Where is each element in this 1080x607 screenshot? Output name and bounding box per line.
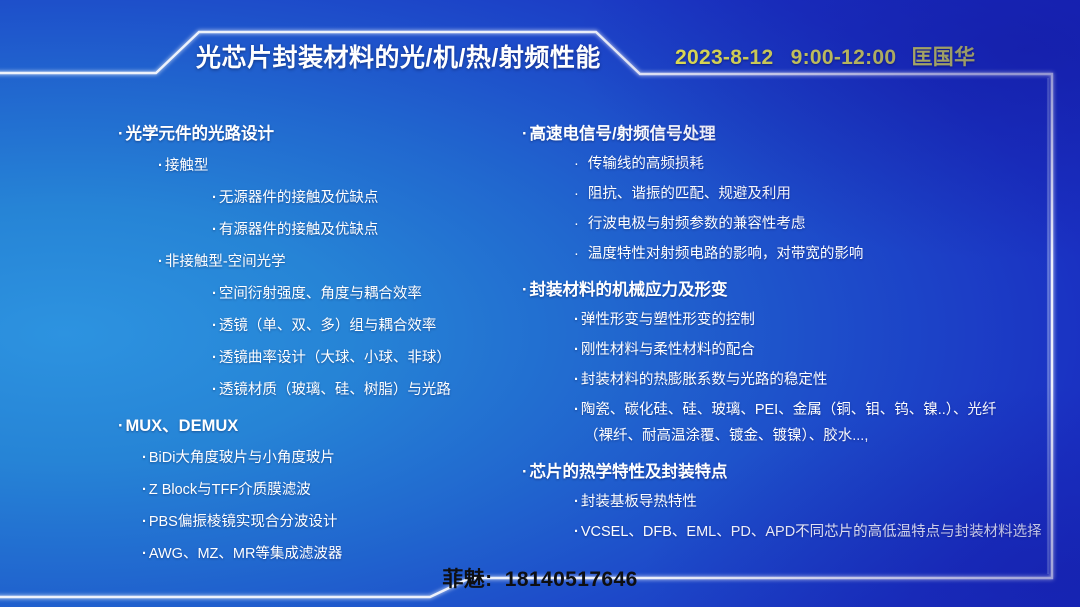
meta-author: 匡国华 bbox=[911, 46, 975, 69]
list-item: PBS偏振棱镜实现合分波设计 bbox=[142, 510, 528, 531]
list-item: BiDi大角度玻片与小角度玻片 bbox=[142, 446, 528, 467]
list-item: 行波电极与射频参数的兼容性考虑 bbox=[574, 212, 1062, 233]
list-item: 接触型 bbox=[158, 154, 528, 175]
right-section-heading-1: 高速电信号/射频信号处理 bbox=[522, 120, 1062, 144]
list-item: 弹性形变与塑性形变的控制 bbox=[574, 308, 1062, 329]
list-item: VCSEL、DFB、EML、PD、APD不同芯片的高低温特点与封装材料选择 bbox=[574, 520, 1062, 541]
meta-date: 2023-8-12 bbox=[675, 46, 773, 69]
list-item: 透镜材质（玻璃、硅、树脂）与光路 bbox=[212, 378, 528, 399]
list-item: Z Block与TFF介质膜滤波 bbox=[142, 478, 528, 499]
list-item: 温度特性对射频电路的影响，对带宽的影响 bbox=[574, 242, 1062, 263]
list-item: 陶瓷、碳化硅、硅、玻璃、PEI、金属（铜、钼、钨、镍..）、光纤 bbox=[574, 398, 1062, 419]
list-item: 封装材料的热膨胀系数与光路的稳定性 bbox=[574, 368, 1062, 389]
footer-label: 菲魅: bbox=[442, 568, 492, 591]
right-section-heading-3: 芯片的热学特性及封装特点 bbox=[522, 458, 1062, 482]
page-title: 光芯片封装材料的光/机/热/射频性能 bbox=[196, 38, 601, 74]
list-item: 有源器件的接触及优缺点 bbox=[212, 218, 528, 239]
list-item: 无源器件的接触及优缺点 bbox=[212, 186, 528, 207]
footer-contact: 菲魅: 18140517646 bbox=[0, 563, 1080, 593]
left-section-heading-1: 光学元件的光路设计 bbox=[118, 120, 528, 144]
left-section-heading-2: MUX、DEMUX bbox=[118, 412, 528, 436]
slide-canvas: 光芯片封装材料的光/机/热/射频性能 2023-8-12 9:00-12:00 … bbox=[0, 0, 1080, 607]
list-item: 透镜（单、双、多）组与耦合效率 bbox=[212, 314, 528, 335]
left-column: 光学元件的光路设计 接触型 无源器件的接触及优缺点 有源器件的接触及优缺点 非接… bbox=[118, 120, 528, 574]
list-item: 刚性材料与柔性材料的配合 bbox=[574, 338, 1062, 359]
list-item: 传输线的高频损耗 bbox=[574, 152, 1062, 173]
meta-time: 9:00-12:00 bbox=[791, 46, 897, 69]
list-item: 封装基板导热特性 bbox=[574, 490, 1062, 511]
right-column: 高速电信号/射频信号处理 传输线的高频损耗 阻抗、谐振的匹配、规避及利用 行波电… bbox=[522, 120, 1062, 550]
right-section-heading-2: 封装材料的机械应力及形变 bbox=[522, 276, 1062, 300]
list-item-continuation: （裸纤、耐高温涂覆、镀金、镀镍）、胶水..., bbox=[584, 424, 1062, 445]
slide-meta: 2023-8-12 9:00-12:00 匡国华 bbox=[675, 41, 975, 71]
list-item: 空间衍射强度、角度与耦合效率 bbox=[212, 282, 528, 303]
list-item: AWG、MZ、MR等集成滤波器 bbox=[142, 542, 528, 563]
list-item: 透镜曲率设计（大球、小球、非球） bbox=[212, 346, 528, 367]
list-item: 阻抗、谐振的匹配、规避及利用 bbox=[574, 182, 1062, 203]
list-item: 非接触型-空间光学 bbox=[158, 250, 528, 271]
footer-phone: 18140517646 bbox=[505, 568, 638, 591]
